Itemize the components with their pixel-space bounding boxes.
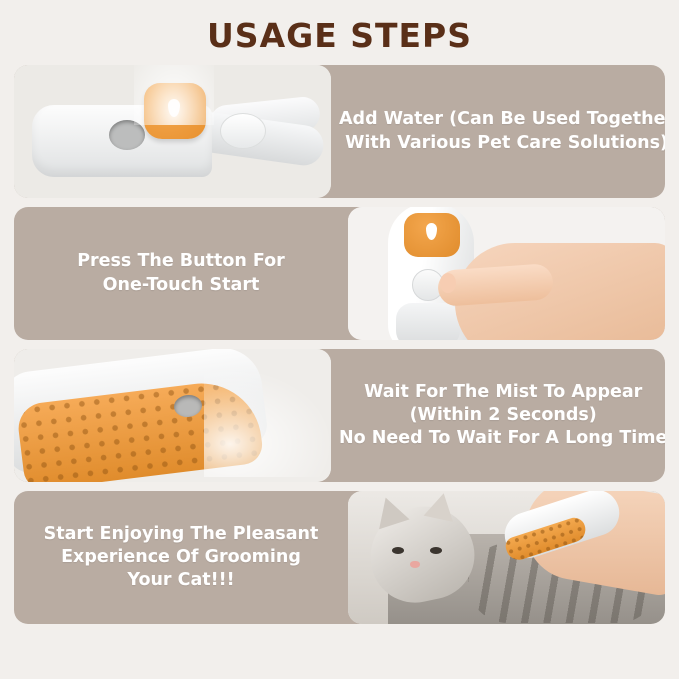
mist-effect — [134, 65, 214, 125]
caption-line: Wait For The Mist To Appear — [339, 381, 665, 404]
caption-line: (Within 2 Seconds) — [339, 404, 665, 427]
cat-eye-right — [430, 547, 442, 554]
caption-line: One-Touch Start — [77, 274, 285, 297]
step-row-2: Press The Button For One-Touch Start — [14, 207, 665, 340]
caption-line: Your Cat!!! — [44, 569, 319, 592]
caption-line: Add Water (Can Be Used Together — [339, 108, 665, 131]
step-row-4: Start Enjoying The Pleasant Experience O… — [14, 491, 665, 624]
caption-line: No Need To Wait For A Long Time — [339, 427, 665, 450]
page-title: USAGE STEPS — [0, 0, 679, 65]
step-caption-4: Start Enjoying The Pleasant Experience O… — [14, 491, 348, 624]
mist-effect — [204, 367, 331, 477]
fingernail — [440, 273, 456, 293]
caption-line: Experience Of Grooming — [44, 546, 319, 569]
orange-water-cap — [404, 213, 460, 257]
step-caption-1: Add Water (Can Be Used Together With Var… — [331, 65, 665, 198]
brush-bristles-emitting-mist-photo — [14, 349, 331, 482]
power-button-shape — [220, 113, 266, 149]
device-grip — [396, 303, 460, 340]
hand-pressing-power-button-photo — [348, 207, 665, 340]
cat-being-groomed-with-brush-photo — [348, 491, 665, 624]
caption-line: With Various Pet Care Solutions) — [339, 132, 665, 155]
cat-nose — [410, 561, 420, 568]
step-row-3: Wait For The Mist To Appear (Within 2 Se… — [14, 349, 665, 482]
cat-eye-left — [392, 547, 404, 554]
steps-list: Add Water (Can Be Used Together With Var… — [0, 65, 679, 624]
caption-line: Start Enjoying The Pleasant — [44, 523, 319, 546]
water-drop-icon — [426, 223, 437, 240]
caption-line: Press The Button For — [77, 250, 285, 273]
step-row-1: Add Water (Can Be Used Together With Var… — [14, 65, 665, 198]
step-caption-3: Wait For The Mist To Appear (Within 2 Se… — [331, 349, 665, 482]
spray-brush-with-orange-water-cap-photo — [14, 65, 331, 198]
usage-steps-infographic: USAGE STEPS Add Water (Can Be Used Toget… — [0, 0, 679, 679]
step-caption-2: Press The Button For One-Touch Start — [14, 207, 348, 340]
